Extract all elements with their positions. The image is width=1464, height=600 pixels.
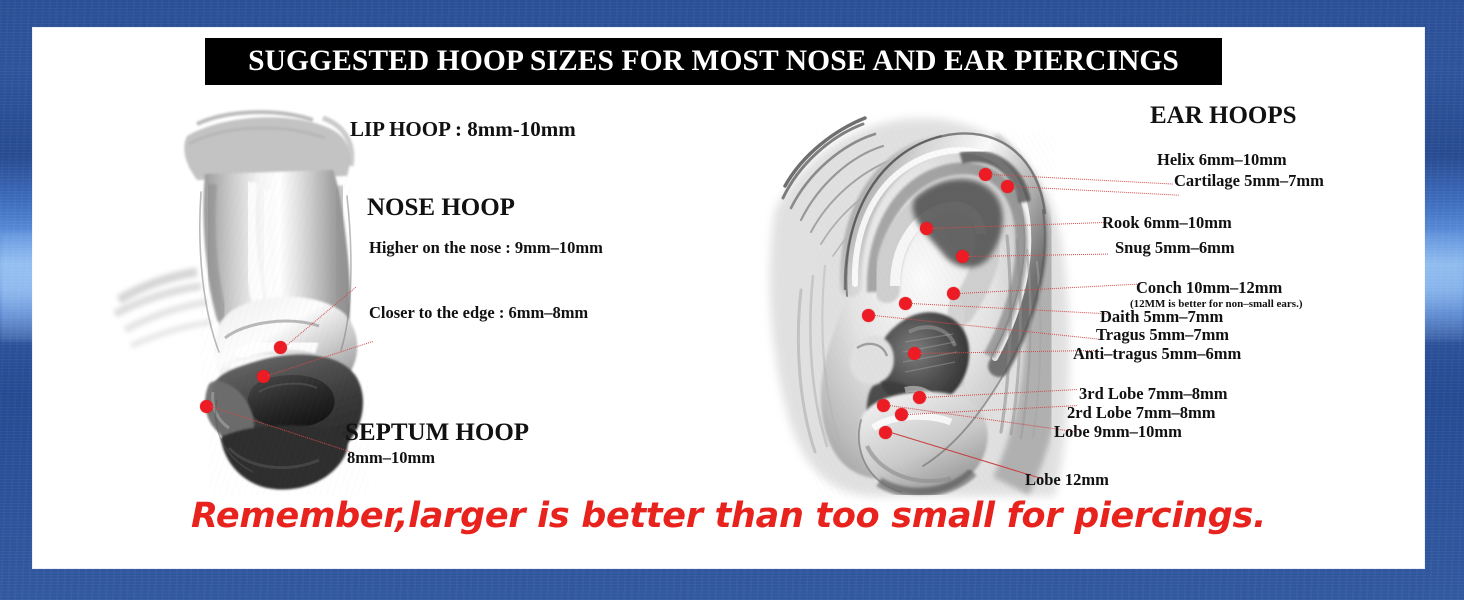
dot-daith: [899, 297, 912, 310]
dot-anti-tragus: [908, 347, 921, 360]
dot-lobe-9-10: [877, 399, 890, 412]
nose-hoop-heading: NOSE HOOP: [367, 195, 515, 220]
dot-cartilage: [1001, 180, 1014, 193]
dot-nose-higher: [274, 341, 287, 354]
dot-tragus: [862, 309, 875, 322]
dot-2rd-lobe: [895, 408, 908, 421]
nose-item-higher: Higher on the nose : 9mm–10mm: [369, 240, 603, 257]
ear-item-3rd-lobe: 3rd Lobe 7mm–8mm: [1079, 386, 1227, 403]
septum-hoop-size: 8mm–10mm: [347, 450, 435, 467]
dot-helix: [979, 168, 992, 181]
ear-item-daith: Daith 5mm–7mm: [1100, 309, 1223, 326]
dot-rook: [920, 222, 933, 235]
septum-hoop-heading: SEPTUM HOOP: [345, 420, 529, 445]
ear-item-helix: Helix 6mm–10mm: [1157, 152, 1287, 169]
ear-item-lobe-9-10: Lobe 9mm–10mm: [1054, 424, 1182, 441]
ear-item-cartilage: Cartilage 5mm–7mm: [1174, 173, 1324, 190]
dot-nose-closer: [257, 370, 270, 383]
infographic-card: SUGGESTED HOOP SIZES FOR MOST NOSE AND E…: [33, 28, 1424, 568]
ear-item-2rd-lobe: 2rd Lobe 7mm–8mm: [1067, 405, 1215, 422]
lip-hoop-label: LIP HOOP : 8mm-10mm: [350, 119, 576, 140]
ear-pencil-drawing: [755, 90, 1085, 510]
ear-hoops-heading: EAR HOOPS: [1150, 103, 1297, 128]
dot-snug: [956, 250, 969, 263]
page-title: SUGGESTED HOOP SIZES FOR MOST NOSE AND E…: [248, 45, 1179, 78]
dot-conch: [947, 287, 960, 300]
dot-nose-septum: [200, 400, 213, 413]
ear-item-tragus: Tragus 5mm–7mm: [1096, 327, 1229, 344]
ear-item-snug: Snug 5mm–6mm: [1115, 240, 1235, 257]
dot-3rd-lobe: [913, 391, 926, 404]
dot-lobe-12: [879, 426, 892, 439]
title-bar: SUGGESTED HOOP SIZES FOR MOST NOSE AND E…: [205, 38, 1222, 85]
nose-item-closer: Closer to the edge : 6mm–8mm: [369, 305, 588, 322]
ear-item-lobe-12: Lobe 12mm: [1025, 472, 1109, 489]
ear-item-conch: Conch 10mm–12mm: [1136, 280, 1282, 297]
ear-item-rook: Rook 6mm–10mm: [1102, 215, 1232, 232]
footer-tagline: Remember,larger is better than too small…: [33, 496, 1424, 536]
ear-item-anti-tragus: Anti–tragus 5mm–6mm: [1073, 346, 1241, 363]
